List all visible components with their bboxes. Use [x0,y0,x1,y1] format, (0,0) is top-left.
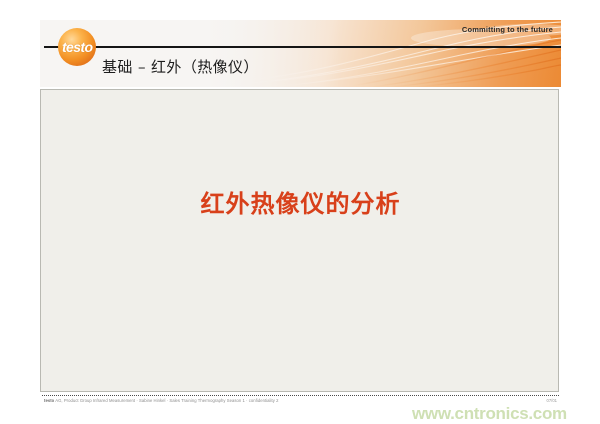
slide-title: 基础 – 红外（热像仪） [102,56,259,77]
footer-divider-rule [42,395,559,396]
site-watermark: www.cntronics.com [412,404,567,424]
slide-content-area: 红外热像仪的分析 [40,89,559,392]
testo-logo-wordmark: testo [62,39,92,55]
footer-credit-brand: testo [44,398,54,403]
slide-header: Committing to the future testo 基础 – 红外（热… [40,20,561,87]
footer-credit-detail: AG, Product Group Infrared Measurement ·… [54,398,278,403]
header-divider-rule [44,46,561,48]
footer-credit-line: testo AG, Product Group Infrared Measure… [44,398,278,403]
main-heading: 红外热像仪的分析 [41,184,560,219]
slide-page-number: 07/01 [547,398,557,403]
presentation-slide: Committing to the future testo 基础 – 红外（热… [40,20,561,404]
company-tagline: Committing to the future [462,25,553,34]
